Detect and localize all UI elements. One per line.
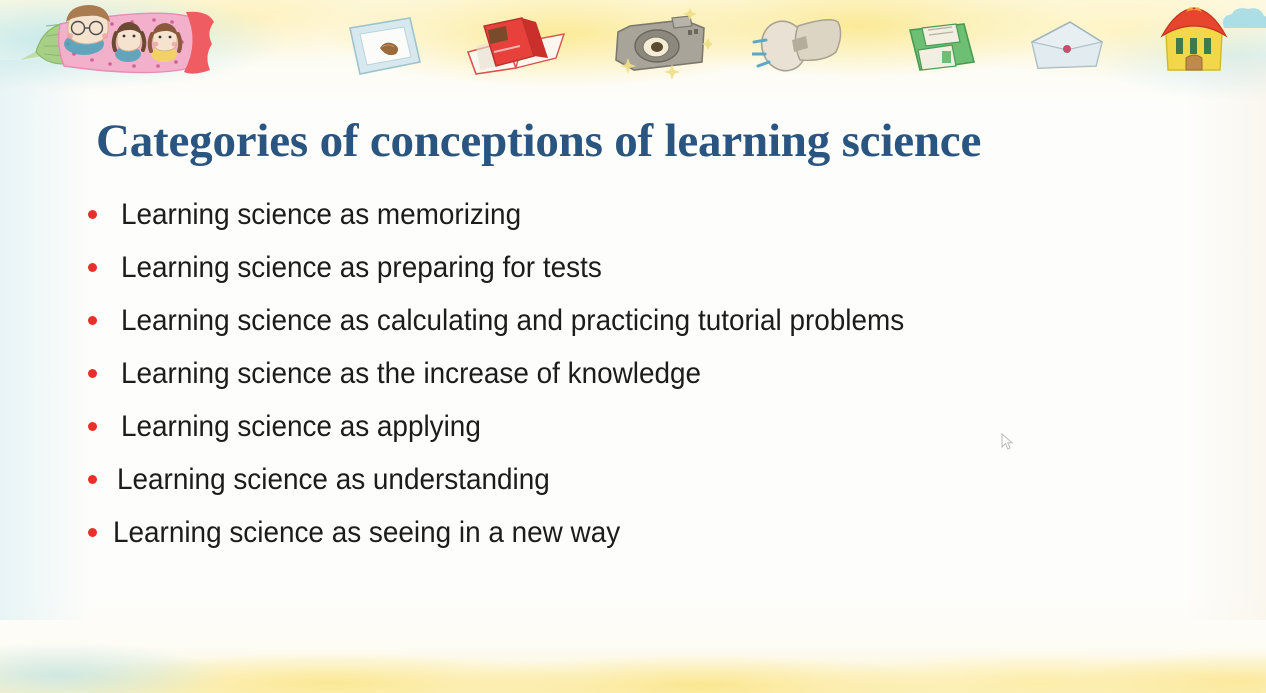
open-red-books-icon — [464, 12, 574, 84]
list-item-label: Learning science as understanding — [117, 465, 550, 495]
bullet-dot-icon — [88, 422, 97, 431]
bullet-dot-icon — [88, 475, 97, 484]
rocket-with-children-icon — [8, 2, 308, 90]
bullet-dot-icon — [88, 369, 97, 378]
envelope-icon — [1026, 16, 1108, 78]
slide-title: Categories of conceptions of learning sc… — [96, 114, 1126, 168]
list-item: Learning science as understanding — [88, 465, 1148, 518]
list-item-label: Learning science as memorizing — [121, 200, 521, 230]
list-item-label: Learning science as applying — [121, 412, 481, 442]
top-watercolor-band — [0, 0, 1266, 104]
list-item: Learning science as applying — [88, 412, 1148, 465]
bullet-list: Learning science as memorizing Learning … — [88, 200, 1148, 571]
megaphone-icon — [752, 14, 848, 80]
bottom-watercolor-band — [0, 597, 1266, 693]
right-watercolor-wash — [1186, 60, 1266, 620]
list-item: Learning science as calculating and prac… — [88, 306, 1148, 359]
camera-icon — [612, 8, 712, 84]
bullet-dot-icon — [88, 210, 97, 219]
left-watercolor-wash — [0, 60, 90, 620]
framed-picture-icon — [344, 14, 426, 80]
floppy-disk-icon — [902, 18, 982, 80]
list-item-label: Learning science as seeing in a new way — [113, 518, 620, 548]
list-item: Learning science as preparing for tests — [88, 253, 1148, 306]
list-item-label: Learning science as the increase of know… — [121, 359, 701, 389]
list-item-label: Learning science as calculating and prac… — [121, 306, 904, 336]
bullet-dot-icon — [88, 263, 97, 272]
presentation-slide: Categories of conceptions of learning sc… — [0, 0, 1266, 693]
house-with-red-roof-icon — [1156, 4, 1232, 80]
list-item-label: Learning science as preparing for tests — [121, 253, 602, 283]
list-item: Learning science as seeing in a new way — [88, 518, 1148, 571]
bullet-dot-icon — [88, 528, 97, 537]
cloud-icon — [1218, 4, 1266, 38]
bullet-dot-icon — [88, 316, 97, 325]
list-item: Learning science as memorizing — [88, 200, 1148, 253]
list-item: Learning science as the increase of know… — [88, 359, 1148, 412]
